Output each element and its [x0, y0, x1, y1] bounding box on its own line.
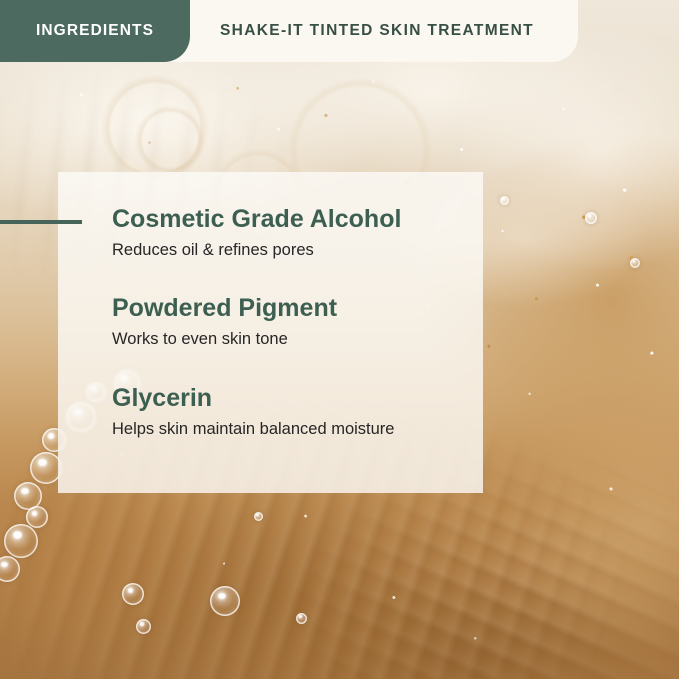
ingredient-name: Glycerin [112, 385, 394, 411]
ingredient-benefit: Reduces oil & refines pores [112, 241, 401, 260]
bubble-ring [585, 212, 597, 224]
header-bar: INGREDIENTS SHAKE-IT TINTED SKIN TREATME… [0, 0, 578, 62]
bubble-ring [296, 613, 307, 624]
ingredients-tab[interactable]: INGREDIENTS [0, 0, 190, 62]
ingredients-tab-label: INGREDIENTS [36, 22, 154, 40]
product-title-container: SHAKE-IT TINTED SKIN TREATMENT [190, 0, 578, 62]
bubble-ring [500, 196, 509, 205]
ingredient-item: Glycerin Helps skin maintain balanced mo… [112, 385, 394, 439]
product-title: SHAKE-IT TINTED SKIN TREATMENT [220, 22, 534, 40]
ingredient-name: Powdered Pigment [112, 295, 337, 321]
bubble-ring [254, 512, 263, 521]
ingredient-item: Powdered Pigment Works to even skin tone [112, 295, 337, 349]
ingredient-benefit: Works to even skin tone [112, 330, 337, 349]
bubble-ring [630, 258, 640, 268]
bubble-ring [26, 506, 48, 528]
bubble-ring [4, 524, 38, 558]
bubble-ring [136, 619, 151, 634]
bubble-ring [210, 586, 240, 616]
accent-dash [0, 220, 82, 224]
ingredient-item: Cosmetic Grade Alcohol Reduces oil & ref… [112, 206, 401, 260]
bubble-ring [122, 583, 144, 605]
product-ingredients-graphic: INGREDIENTS SHAKE-IT TINTED SKIN TREATME… [0, 0, 679, 679]
ingredient-name: Cosmetic Grade Alcohol [112, 206, 401, 232]
ingredient-benefit: Helps skin maintain balanced moisture [112, 420, 394, 439]
